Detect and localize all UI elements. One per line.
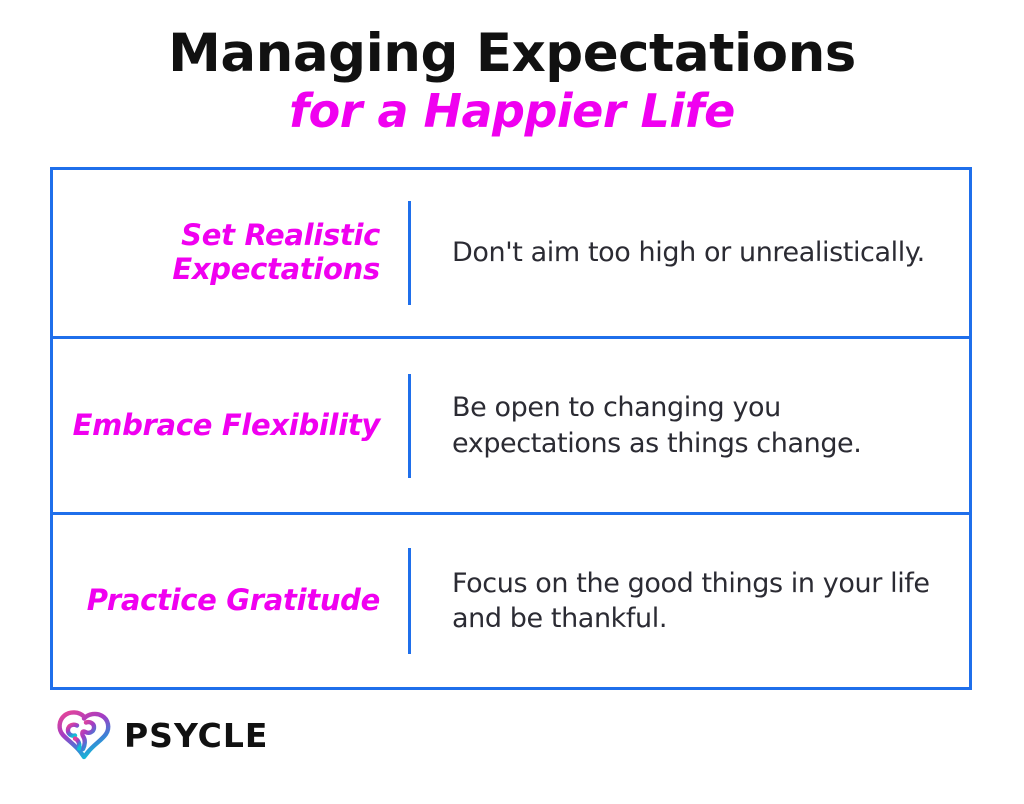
row-heading-embrace-flexibility: Embrace Flexibility bbox=[53, 409, 408, 443]
row-heading-set-realistic-expectations: Set Realistic Expectations bbox=[53, 219, 408, 286]
brand-logo: PSYCLE bbox=[55, 708, 268, 762]
row-heading-practice-gratitude: Practice Gratitude bbox=[53, 584, 408, 618]
row-description-embrace-flexibility: Be open to changing you expectations as … bbox=[411, 390, 969, 460]
brain-icon bbox=[55, 708, 113, 762]
title-block: Managing Expectations for a Happier Life bbox=[0, 26, 1024, 137]
logo-wordmark: PSYCLE bbox=[124, 719, 268, 752]
tips-table: Set Realistic Expectations Don't aim too… bbox=[50, 167, 972, 690]
table-row: Set Realistic Expectations Don't aim too… bbox=[53, 170, 969, 339]
page-subtitle: for a Happier Life bbox=[0, 86, 1024, 138]
infographic-poster: Managing Expectations for a Happier Life… bbox=[0, 0, 1024, 804]
table-row: Practice Gratitude Focus on the good thi… bbox=[53, 515, 969, 687]
page-title: Managing Expectations bbox=[0, 26, 1024, 82]
row-description-practice-gratitude: Focus on the good things in your life an… bbox=[411, 566, 969, 636]
row-description-set-realistic-expectations: Don't aim too high or unrealistically. bbox=[411, 235, 969, 270]
table-row: Embrace Flexibility Be open to changing … bbox=[53, 339, 969, 515]
